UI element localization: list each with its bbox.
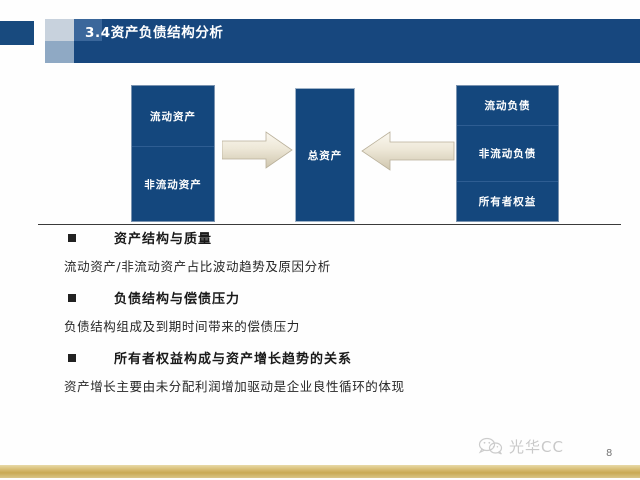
total-assets-box: 总资产 (295, 88, 355, 222)
bullet-detail-row-3: 资产增长主要由未分配利润增加驱动是企业良性循环的体现 (0, 376, 640, 395)
segment-current-assets: 流动资产 (132, 86, 214, 146)
body-content: 资产结构与质量 流动资产/非流动资产占比波动趋势及原因分析 负债结构与偿债压力 … (0, 228, 640, 428)
bullet-heading-2: 负债结构与偿债压力 (114, 288, 240, 307)
section-divider (38, 224, 621, 225)
bullet-heading-3: 所有者权益构成与资产增长趋势的关系 (114, 348, 352, 367)
footer-gold-bar (0, 465, 640, 478)
segment-total-assets: 总资产 (296, 89, 354, 221)
assets-box: 流动资产 非流动资产 (131, 85, 215, 222)
bullet-square-icon (68, 234, 76, 242)
arrow-left-icon (360, 128, 456, 174)
bullet-detail-1: 流动资产/非流动资产占比波动趋势及原因分析 (64, 259, 331, 274)
arrow-right-icon (222, 128, 294, 172)
wechat-logo-icon (478, 437, 504, 455)
liabilities-equity-box: 流动负债 非流动负债 所有者权益 (456, 85, 559, 222)
segment-noncurrent-assets: 非流动资产 (132, 146, 214, 222)
bullet-item-2: 负债结构与偿债压力 (0, 288, 640, 307)
page-title: 3.4资产负债结构分析 (85, 19, 625, 47)
page-number: 8 (606, 448, 612, 459)
watermark: 光华CC (478, 433, 618, 459)
bullet-detail-3: 资产增长主要由未分配利润增加驱动是企业良性循环的体现 (64, 379, 405, 394)
segment-current-liabilities: 流动负债 (457, 86, 558, 125)
slide-canvas: 3.4资产负债结构分析 流动资产 非流动资产 总资产 (0, 0, 640, 480)
bullet-square-icon (68, 354, 76, 362)
bullet-detail-row-1: 流动资产/非流动资产占比波动趋势及原因分析 (0, 256, 640, 275)
watermark-text: 光华CC (509, 436, 564, 457)
segment-owners-equity: 所有者权益 (457, 181, 558, 221)
segment-noncurrent-liabilities: 非流动负债 (457, 125, 558, 181)
bullet-heading-1: 资产结构与质量 (114, 228, 212, 247)
bullet-detail-2: 负债结构组成及到期时间带来的偿债压力 (64, 319, 300, 334)
bullet-item-3: 所有者权益构成与资产增长趋势的关系 (0, 348, 640, 367)
bullet-item-1: 资产结构与质量 (0, 228, 640, 247)
bullet-square-icon (68, 294, 76, 302)
bullet-detail-row-2: 负债结构组成及到期时间带来的偿债压力 (0, 316, 640, 335)
